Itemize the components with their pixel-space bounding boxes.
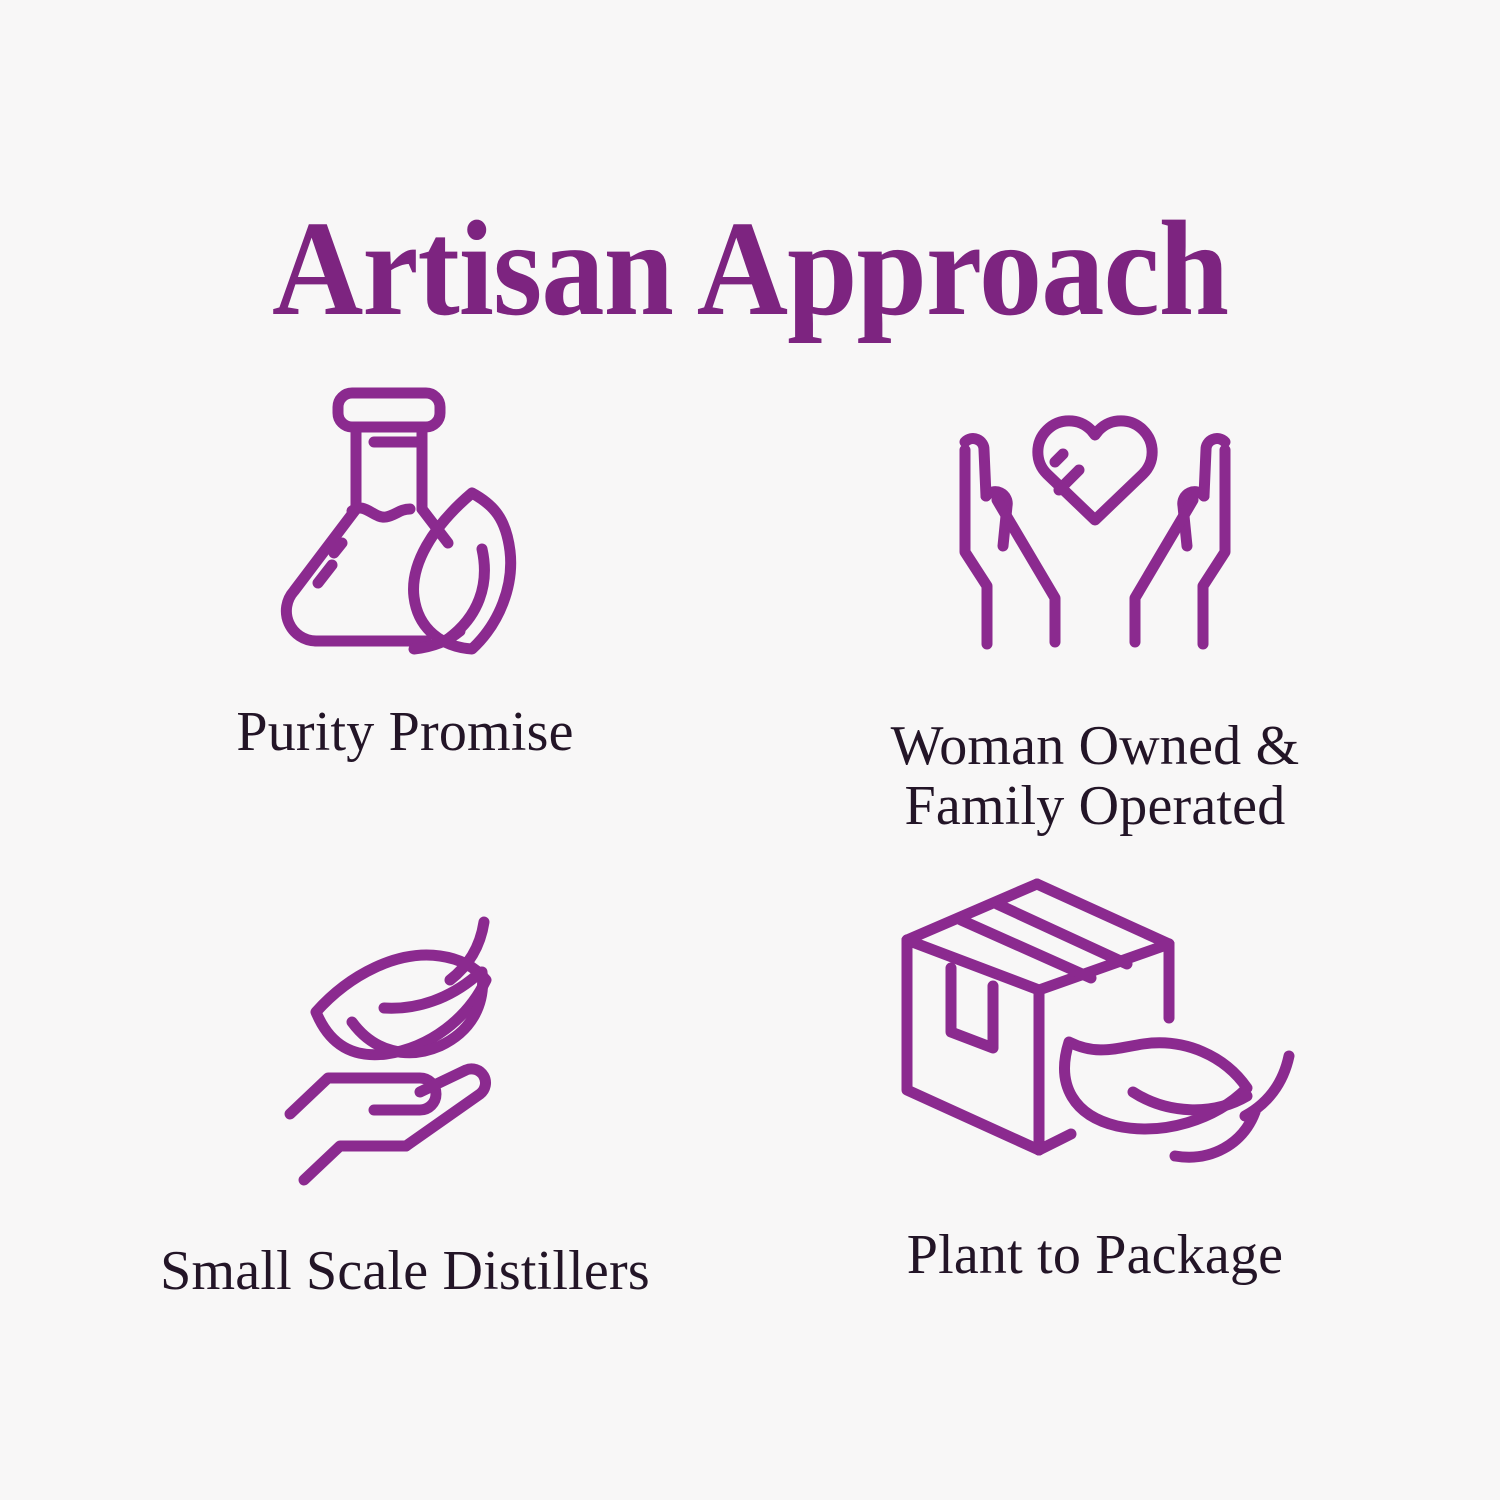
feature-label-line-1: Purity Promise xyxy=(236,702,573,762)
feature-item-plant-to-package: Plant to Package xyxy=(750,877,1440,1402)
feature-icon-container xyxy=(280,877,530,1183)
feature-label-line-1: Plant to Package xyxy=(907,1225,1283,1285)
feature-label: Plant to Package xyxy=(907,1225,1283,1285)
leaf-in-open-hand-icon xyxy=(280,908,530,1168)
feature-label-line-1: Woman Owned & xyxy=(891,716,1300,776)
feature-label-line-1: Small Scale Distillers xyxy=(160,1241,650,1301)
feature-label: Small Scale Distillers xyxy=(160,1241,650,1301)
feature-label-line-2: Family Operated xyxy=(891,776,1300,836)
page-title: Artisan Approach xyxy=(272,201,1228,337)
feature-icon-container xyxy=(885,877,1305,1167)
feature-label: Purity Promise xyxy=(236,702,573,762)
feature-icon-container xyxy=(270,352,540,658)
hands-holding-heart-icon xyxy=(935,392,1255,652)
artisan-approach-panel: Artisan Approach xyxy=(0,0,1500,1500)
feature-icon-container xyxy=(935,352,1255,672)
flask-leaf-icon xyxy=(270,363,540,653)
package-box-leaf-icon xyxy=(885,872,1305,1172)
feature-item-small-scale-distillers: Small Scale Distillers xyxy=(60,877,750,1402)
feature-item-woman-owned: Woman Owned & Family Operated xyxy=(750,352,1440,877)
feature-item-purity-promise: Purity Promise xyxy=(60,352,750,877)
feature-label: Woman Owned & Family Operated xyxy=(891,716,1300,837)
feature-grid: Purity Promise xyxy=(60,352,1440,1402)
